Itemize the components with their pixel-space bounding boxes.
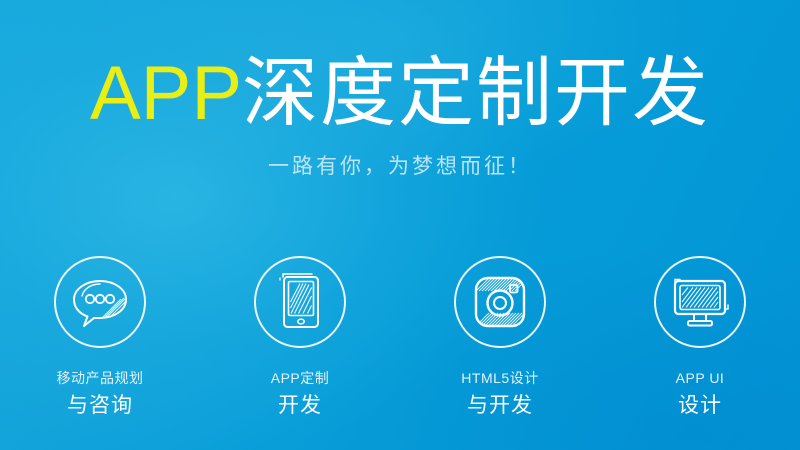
feature-caption-top: 移动产品规划 (57, 370, 144, 388)
promo-banner: APP深度定制开发 一路有你，为梦想而征！ (0, 0, 800, 450)
feature-item-app-development[interactable]: APP定制 开发 (200, 256, 400, 419)
feature-caption-top: HTML5设计 (461, 370, 538, 388)
feature-item-app-ui[interactable]: APP UI 设计 (600, 256, 800, 419)
feature-caption: APP UI 设计 (676, 370, 725, 419)
feature-icon-circle (254, 256, 346, 348)
feature-caption: 移动产品规划 与咨询 (57, 370, 144, 419)
headline-main: 深度定制开发 (242, 51, 710, 136)
feature-item-consulting[interactable]: 移动产品规划 与咨询 (0, 256, 200, 419)
headline-accent: APP (90, 51, 242, 136)
feature-caption-bottom: 与咨询 (57, 393, 144, 419)
headline-container: APP深度定制开发 (0, 56, 800, 132)
feature-item-html5[interactable]: HTML5设计 与开发 (400, 256, 600, 419)
feature-caption-top: APP UI (676, 370, 725, 388)
feature-caption: HTML5设计 与开发 (461, 370, 538, 419)
feature-caption-bottom: 开发 (271, 393, 330, 419)
desktop-monitor-icon (667, 273, 733, 331)
feature-list: 移动产品规划 与咨询 (0, 256, 800, 419)
speech-bubble-icon (69, 273, 131, 331)
subtitle: 一路有你，为梦想而征！ (0, 150, 800, 180)
camera-icon (470, 272, 530, 332)
page-title: APP深度定制开发 (90, 56, 710, 132)
feature-caption-bottom: 与开发 (461, 393, 538, 419)
feature-caption-top: APP定制 (271, 370, 330, 388)
feature-icon-circle (454, 256, 546, 348)
feature-icon-circle (654, 256, 746, 348)
tablet-device-icon (272, 270, 328, 334)
feature-caption: APP定制 开发 (271, 370, 330, 419)
feature-caption-bottom: 设计 (676, 393, 725, 419)
feature-icon-circle (54, 256, 146, 348)
